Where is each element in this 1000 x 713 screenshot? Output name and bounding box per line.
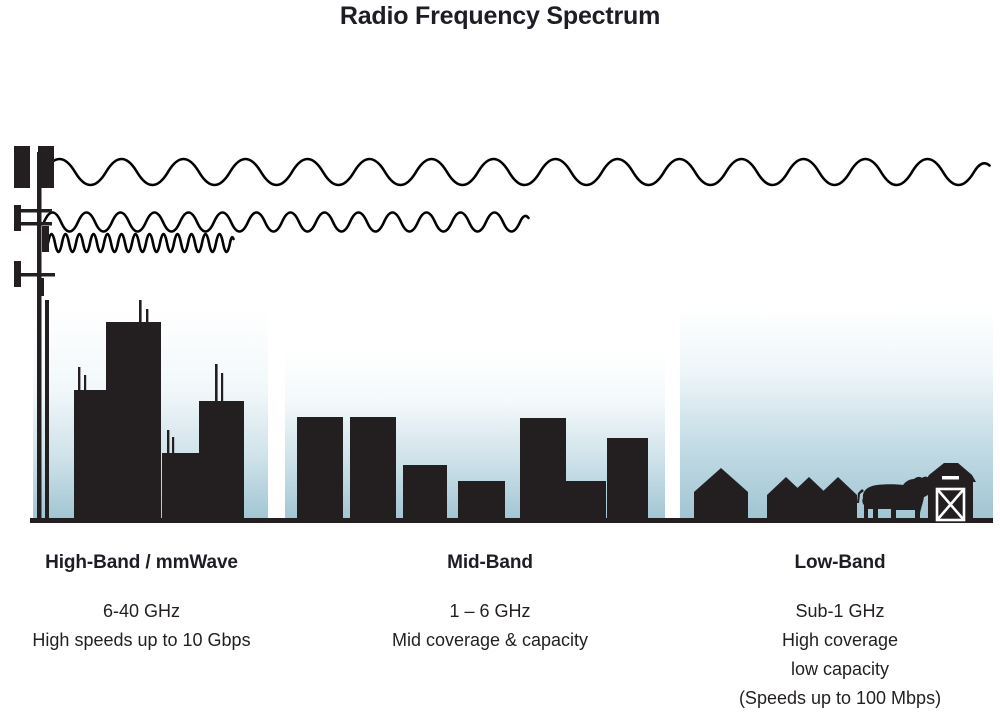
- antenna-panel-4: [42, 226, 49, 252]
- tower-mast: [37, 152, 42, 520]
- tower-crossbar-upper: [20, 209, 52, 213]
- skyscraper-spire-3: [167, 430, 169, 454]
- mid-building-4: [458, 481, 505, 520]
- skyscraper-spire-2: [139, 300, 142, 322]
- tower-crossbar-lower: [17, 273, 55, 277]
- tower-crossbar-mid: [20, 222, 52, 226]
- skyscraper-spire-4b: [221, 373, 223, 402]
- infographic-canvas: Radio Frequency Spectrum: [0, 0, 1000, 700]
- band-detail-low-2: low capacity: [690, 655, 990, 684]
- skyscraper-3: [162, 453, 199, 520]
- skyscraper-spire-4: [215, 364, 218, 402]
- band-detail-low-0: Sub-1 GHz: [690, 597, 990, 626]
- band-label-low: Low-Band: [690, 548, 990, 577]
- skyscraper-spire-3b: [172, 437, 174, 454]
- band-detail-high-1: High speeds up to 10 Gbps: [0, 626, 283, 655]
- band-detail-low-1: High coverage: [690, 626, 990, 655]
- mid-building-2: [350, 417, 396, 520]
- mid-building-6: [566, 481, 606, 520]
- caption-low-band: Low-Band Sub-1 GHz High coverage low cap…: [690, 548, 990, 713]
- antenna-mast-tip: [41, 278, 44, 296]
- mid-building-5: [520, 418, 566, 520]
- antenna-panel-2: [38, 146, 54, 188]
- antenna-panel-1: [14, 146, 30, 188]
- antenna-panel-5: [14, 261, 21, 287]
- mid-building-3: [403, 465, 447, 520]
- mid-frequency-wave: [44, 213, 529, 232]
- antenna-panel-3: [14, 205, 21, 231]
- high-frequency-wave: [48, 234, 234, 252]
- band-label-mid: Mid-Band: [340, 548, 640, 577]
- radio-waves: [44, 159, 990, 252]
- mid-building-7: [607, 438, 648, 520]
- tower-mast-secondary: [45, 300, 49, 520]
- band-detail-mid-1: Mid coverage & capacity: [340, 626, 640, 655]
- band-detail-low-3: (Speeds up to 100 Mbps): [690, 684, 990, 713]
- skyscraper-4: [199, 401, 244, 520]
- barn-vent: [942, 476, 959, 480]
- skyscraper-2: [106, 322, 161, 520]
- skyscraper-spire-2b: [146, 309, 148, 322]
- band-label-high: High-Band / mmWave: [0, 548, 283, 577]
- band-detail-mid-0: 1 – 6 GHz: [340, 597, 640, 626]
- caption-high-band: High-Band / mmWave 6-40 GHz High speeds …: [0, 548, 283, 655]
- low-frequency-wave: [44, 159, 990, 185]
- mid-building-1: [297, 417, 343, 520]
- caption-mid-band: Mid-Band 1 – 6 GHz Mid coverage & capaci…: [340, 548, 640, 655]
- band-detail-high-0: 6-40 GHz: [0, 597, 283, 626]
